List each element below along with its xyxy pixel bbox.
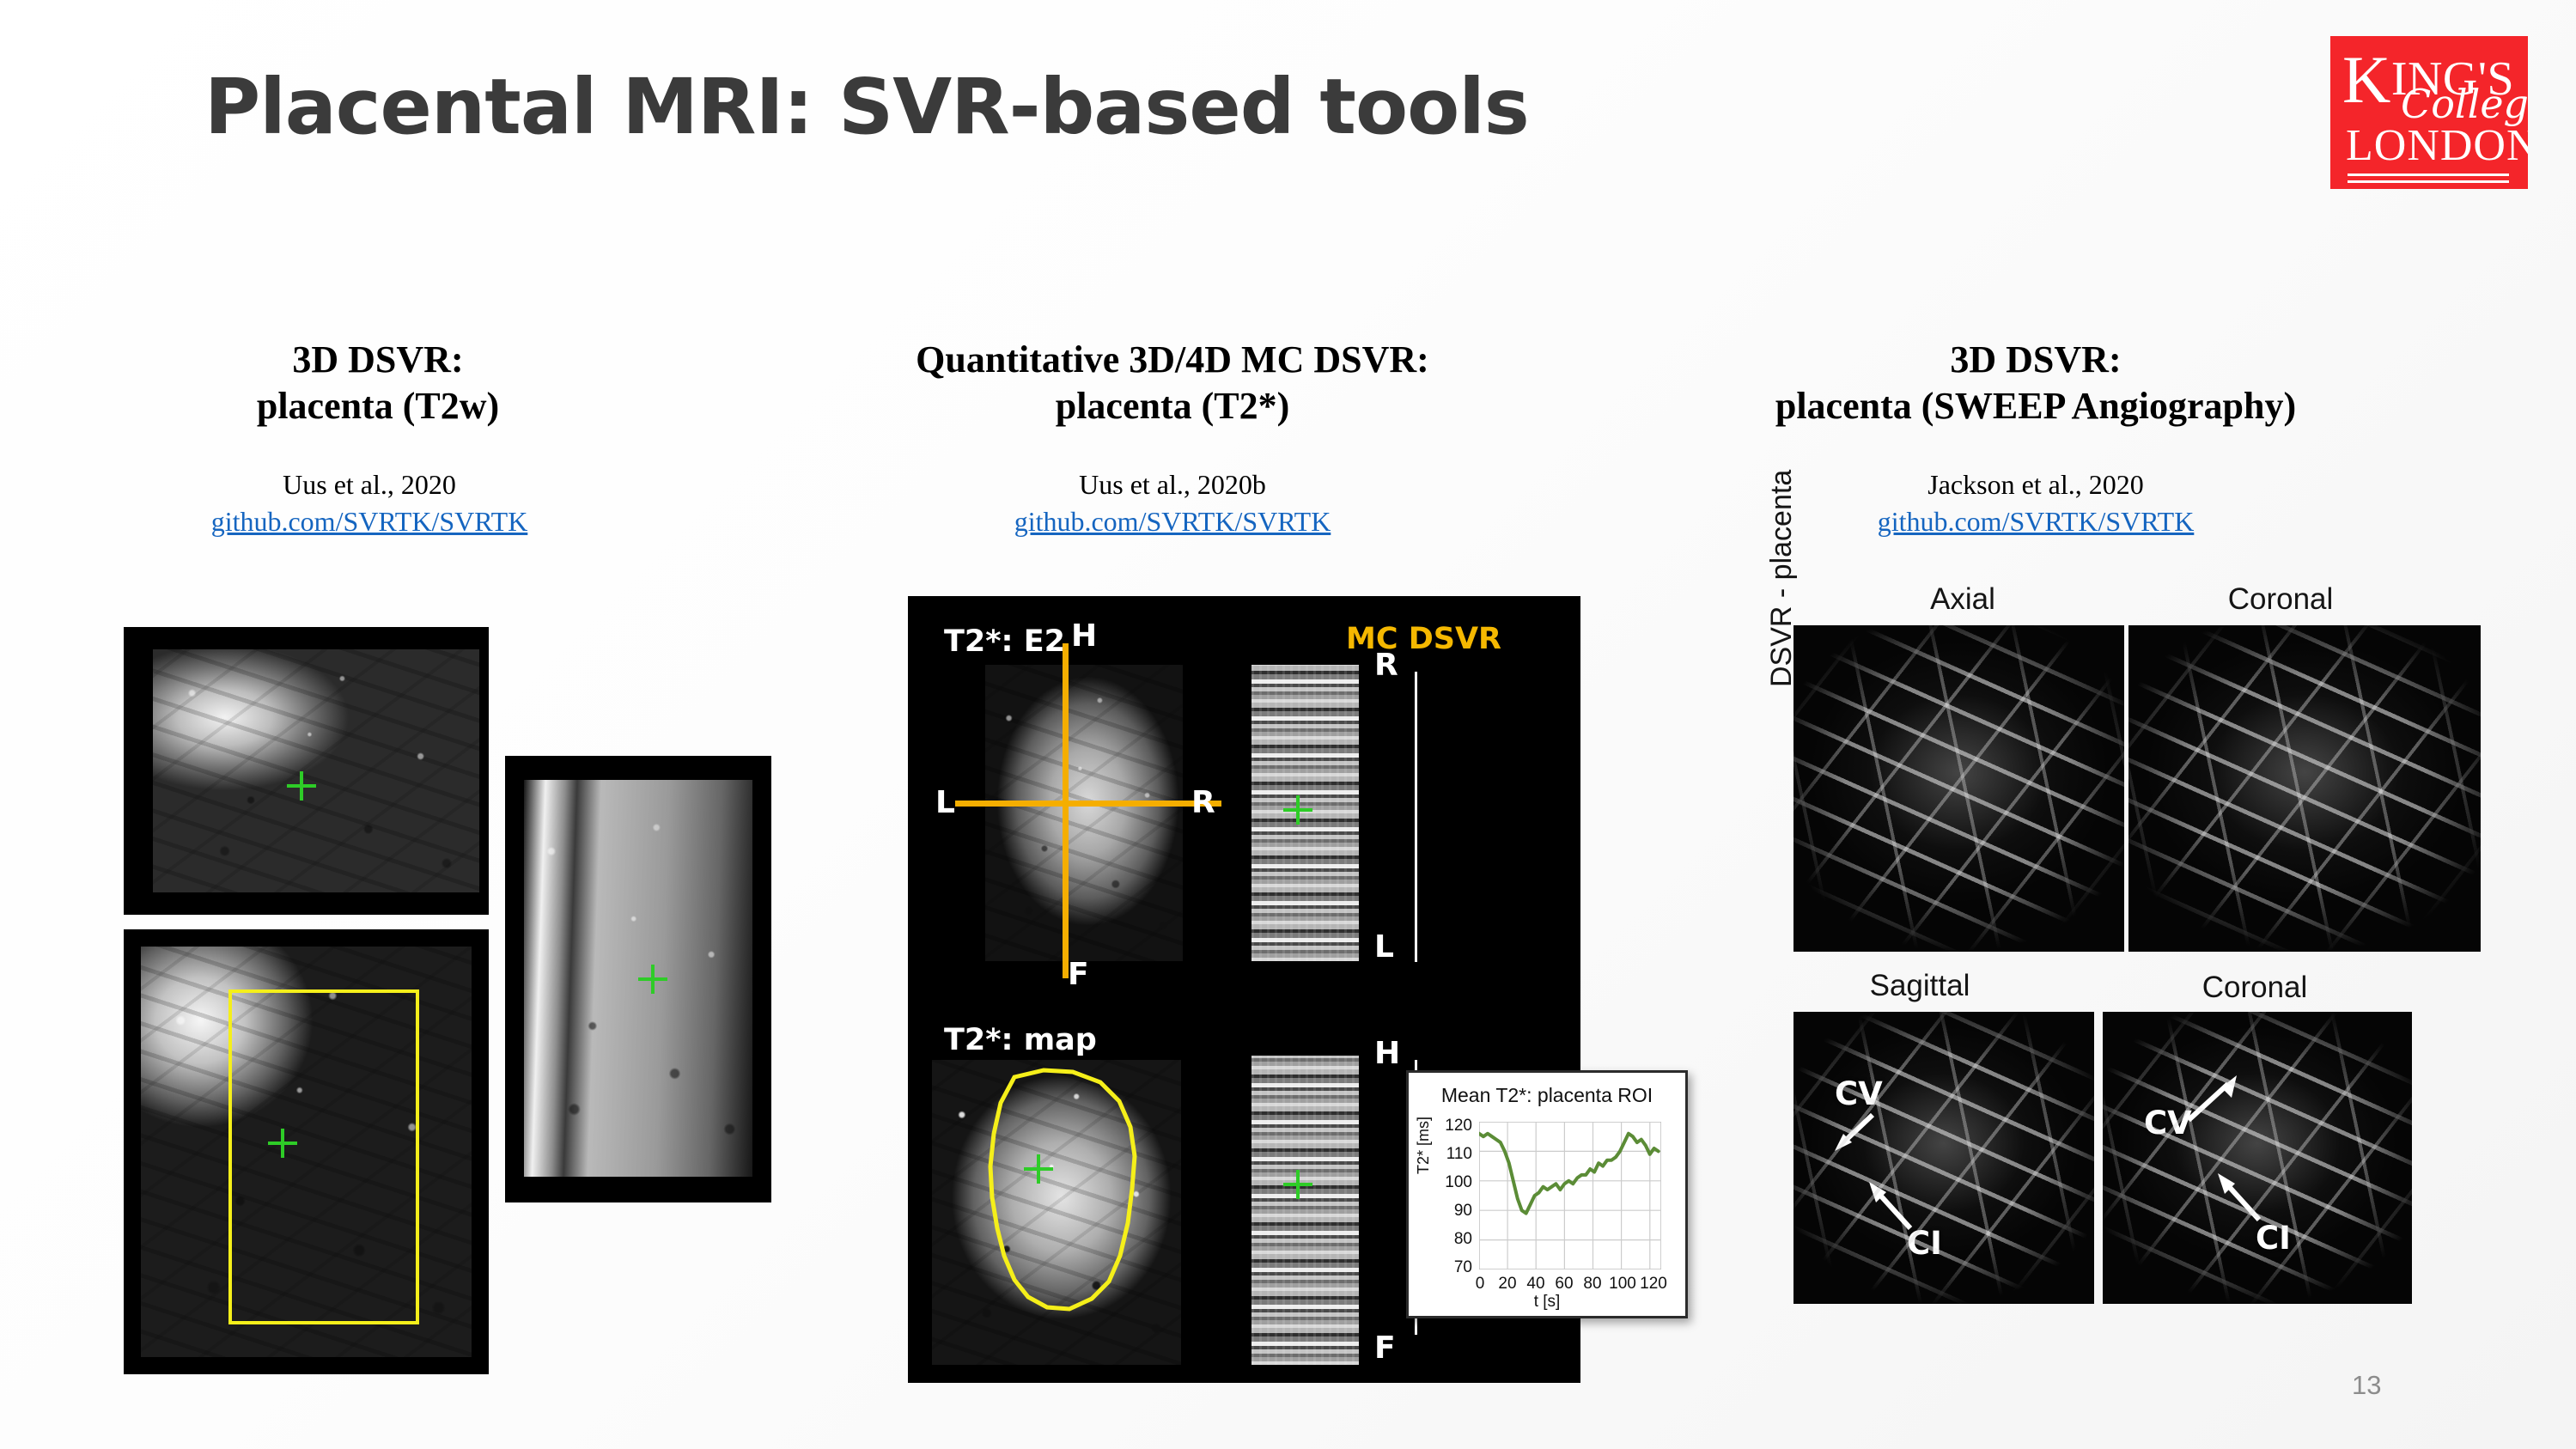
mri-axial-t2w bbox=[124, 627, 489, 915]
chart-xtick: 80 bbox=[1580, 1275, 1605, 1292]
chart-plot-area bbox=[1479, 1122, 1661, 1269]
chart-ytick: 120 bbox=[1417, 1117, 1472, 1134]
mean-t2star-chart: Mean T2*: placenta ROI T2* [ms] t [s] 12… bbox=[1406, 1070, 1688, 1318]
arrow-icon-ci-sagittal bbox=[1847, 1163, 1924, 1240]
column2-repo-link[interactable]: github.com/SVRTK/SVRTK bbox=[829, 503, 1516, 540]
orientation-label-r: R bbox=[1191, 785, 1215, 820]
label-t2star-map: T2*: map bbox=[944, 1023, 1097, 1057]
annotation-ci-coronal: CI bbox=[2256, 1220, 2291, 1257]
logo-college-text: College bbox=[2401, 84, 2528, 124]
arrow-icon-ci-coronal bbox=[2197, 1156, 2275, 1233]
logo-london-text: LONDON bbox=[2346, 124, 2528, 168]
kings-college-london-logo: KING'S College LONDON bbox=[2330, 36, 2528, 189]
chart-xtick: 60 bbox=[1552, 1275, 1576, 1292]
annotation-ci-sagittal: CI bbox=[1907, 1225, 1942, 1262]
slide-root: Placental MRI: SVR-based tools KING'S Co… bbox=[0, 0, 2576, 1449]
chart-ytick: 90 bbox=[1417, 1202, 1472, 1219]
column1-repo-link[interactable]: github.com/SVRTK/SVRTK bbox=[129, 503, 610, 540]
view-label-coronal-top: Coronal bbox=[2165, 582, 2396, 617]
mri-speckle-texture bbox=[153, 649, 479, 892]
crosshair-vertical-orange bbox=[1063, 643, 1069, 978]
orientation-label-stack-r: R bbox=[1374, 648, 1398, 683]
orientation-label-stack-h: H bbox=[1374, 1036, 1400, 1071]
column2-heading-line2: placenta (T2*) bbox=[829, 383, 1516, 429]
mri-speckle-texture bbox=[524, 780, 752, 1177]
chart-ytick: 100 bbox=[1417, 1174, 1472, 1190]
column1-citation: Uus et al., 2020 github.com/SVRTK/SVRTK bbox=[129, 466, 610, 540]
annotation-cv-sagittal: CV bbox=[1835, 1075, 1883, 1112]
column2-citation-text: Uus et al., 2020b bbox=[1079, 469, 1266, 500]
angio-axial-image bbox=[1793, 625, 2124, 952]
arrow-icon-cv-coronal bbox=[2178, 1055, 2264, 1141]
column3-citation-text: Jackson et al., 2020 bbox=[1927, 469, 2144, 500]
orientation-label-l: L bbox=[935, 785, 955, 820]
angio-coronal-bottom-image: CV CI bbox=[2103, 1012, 2412, 1304]
stack-axis-line-top bbox=[1415, 672, 1417, 962]
view-label-axial: Axial bbox=[1847, 582, 2079, 617]
chart-xtick: 120 bbox=[1637, 1275, 1670, 1292]
column1-heading-line1: 3D DSVR: bbox=[137, 337, 618, 383]
column2-heading: Quantitative 3D/4D MC DSVR: placenta (T2… bbox=[829, 337, 1516, 429]
page-title: Placental MRI: SVR-based tools bbox=[204, 62, 1529, 151]
chart-ytick: 110 bbox=[1417, 1146, 1472, 1162]
crosshair-horizontal-orange bbox=[955, 801, 1221, 807]
t2star-map-image bbox=[932, 1060, 1181, 1365]
column1-heading-line2: placenta (T2w) bbox=[137, 383, 618, 429]
chart-xtick: 20 bbox=[1495, 1275, 1519, 1292]
arrow-icon-cv-sagittal bbox=[1819, 1106, 1888, 1175]
angio-sagittal-image: CV CI bbox=[1793, 1012, 2094, 1304]
mri-coronal-t2w-image bbox=[524, 780, 752, 1177]
logo-rule-bottom bbox=[2348, 180, 2509, 183]
chart-xtick: 0 bbox=[1469, 1275, 1491, 1292]
orientation-label-stack-l: L bbox=[1374, 929, 1394, 965]
angio-coronal-top-image bbox=[2128, 625, 2481, 952]
mri-sagittal-t2w bbox=[124, 929, 489, 1374]
column3-heading: 3D DSVR: placenta (SWEEP Angiography) bbox=[1658, 337, 2414, 429]
column1-citation-text: Uus et al., 2020 bbox=[283, 469, 456, 500]
chart-x-axis-label: t [s] bbox=[1409, 1293, 1685, 1312]
chart-xtick: 40 bbox=[1524, 1275, 1548, 1292]
column2-heading-line1: Quantitative 3D/4D MC DSVR: bbox=[829, 337, 1516, 383]
chart-title: Mean T2*: placenta ROI bbox=[1409, 1084, 1685, 1107]
chart-ytick: 80 bbox=[1417, 1231, 1472, 1247]
logo-k-glyph: K bbox=[2342, 42, 2391, 117]
mc-dsvr-stack-bottom bbox=[1251, 1056, 1359, 1365]
view-label-sagittal: Sagittal bbox=[1804, 969, 2036, 1003]
label-mc-dsvr: MC DSVR bbox=[1346, 622, 1501, 656]
logo-rule-top bbox=[2348, 174, 2509, 176]
label-t2star-e2: T2*: E2 bbox=[944, 624, 1065, 659]
mri-speckle-texture bbox=[932, 1060, 1181, 1365]
orientation-label-stack-f: F bbox=[1374, 1330, 1396, 1366]
column3-heading-line1: 3D DSVR: bbox=[1658, 337, 2414, 383]
mc-dsvr-stack-top bbox=[1251, 665, 1359, 961]
mri-axial-t2w-image bbox=[153, 649, 479, 892]
t2star-e2-image bbox=[985, 665, 1183, 961]
page-number: 13 bbox=[2352, 1370, 2381, 1401]
mri-coronal-t2w bbox=[505, 756, 771, 1202]
column1-heading: 3D DSVR: placenta (T2w) bbox=[137, 337, 618, 429]
column3-heading-line2: placenta (SWEEP Angiography) bbox=[1658, 383, 2414, 429]
orientation-label-h: H bbox=[1071, 618, 1097, 654]
orientation-label-f: F bbox=[1068, 957, 1089, 992]
chart-xtick: 100 bbox=[1606, 1275, 1639, 1292]
mri-speckle-texture bbox=[985, 665, 1183, 961]
roi-rectangle-t2w bbox=[228, 989, 419, 1324]
annotation-cv-coronal: CV bbox=[2144, 1105, 2192, 1142]
view-label-coronal-bottom: Coronal bbox=[2139, 971, 2371, 1005]
column2-citation: Uus et al., 2020b github.com/SVRTK/SVRTK bbox=[829, 466, 1516, 540]
chart-ytick: 70 bbox=[1417, 1259, 1472, 1275]
